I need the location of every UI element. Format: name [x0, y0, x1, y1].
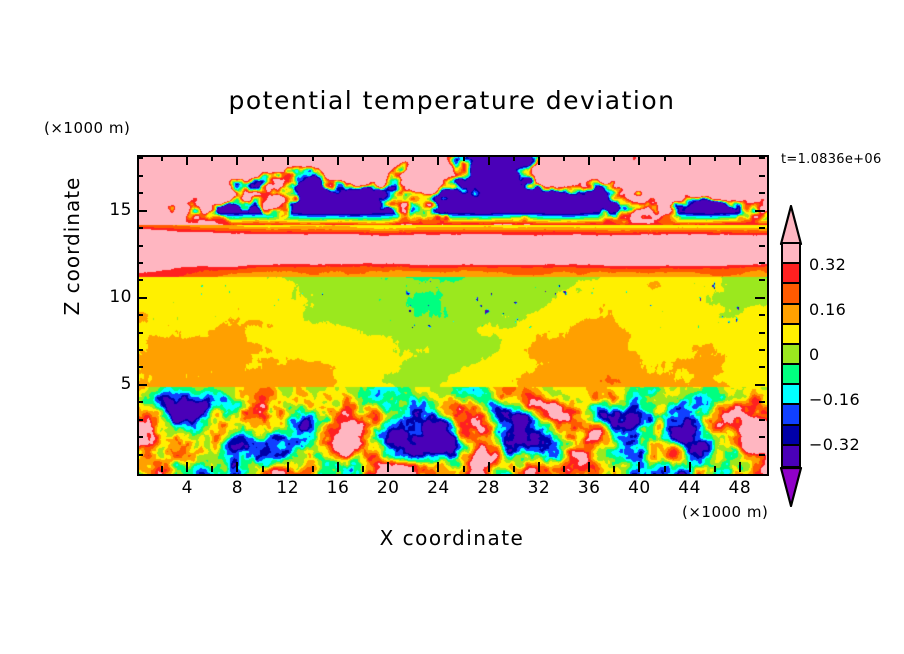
colorbar-band [783, 345, 799, 365]
x-tick-label: 20 [368, 478, 408, 498]
x-tick-top [262, 155, 264, 161]
y-tick-minor [137, 401, 143, 403]
x-tick-top [664, 155, 666, 161]
x-tick-top [613, 155, 615, 161]
colorbar-band [783, 264, 799, 284]
x-tick-top [312, 155, 314, 161]
x-tick-top [186, 155, 188, 165]
x-tick-top [211, 155, 213, 161]
x-tick-top [236, 155, 238, 165]
x-tick-minor [312, 466, 314, 472]
y-tick-minor [137, 245, 143, 247]
x-tick-label: 32 [519, 478, 559, 498]
x-tick-minor [664, 466, 666, 472]
x-tick-top [714, 155, 716, 161]
colorbar-band [783, 305, 799, 325]
timestamp-annotation: t=1.0836e+06 [781, 152, 882, 167]
x-tick-major [186, 462, 188, 472]
x-tick-label: 28 [469, 478, 509, 498]
colorbar-band [783, 325, 799, 345]
colorbar: 0.320.160−0.16−0.32 [779, 205, 803, 505]
y-tick-right [755, 210, 765, 212]
page-title: potential temperature deviation [0, 86, 904, 115]
y-tick-minor [137, 419, 143, 421]
x-tick-top [437, 155, 439, 165]
x-tick-label: 24 [418, 478, 458, 498]
y-tick-label: 5 [92, 374, 132, 394]
x-tick-minor [513, 466, 515, 472]
y-tick-right [759, 157, 765, 159]
colorbar-tick-label: 0.16 [809, 300, 846, 319]
x-tick-label: 48 [720, 478, 760, 498]
y-tick-minor [137, 349, 143, 351]
x-axis-title: X coordinate [252, 526, 652, 550]
y-tick-minor [137, 262, 143, 264]
y-tick-label: 15 [92, 200, 132, 220]
y-tick-right [759, 401, 765, 403]
x-tick-major [337, 462, 339, 472]
y-tick-minor [137, 332, 143, 334]
x-tick-major [739, 462, 741, 472]
x-tick-top [689, 155, 691, 165]
y-tick-right [759, 366, 765, 368]
x-tick-top [412, 155, 414, 161]
x-tick-top [488, 155, 490, 165]
x-tick-top [739, 155, 741, 165]
x-tick-major [638, 462, 640, 472]
y-tick-label: 10 [92, 287, 132, 307]
y-tick-major [137, 210, 147, 212]
y-tick-minor [137, 227, 143, 229]
colorbar-band [783, 284, 799, 304]
x-tick-label: 36 [569, 478, 609, 498]
y-tick-right [759, 349, 765, 351]
x-tick-label: 16 [318, 478, 358, 498]
figure-root: potential temperature deviation (×1000 m… [0, 0, 904, 654]
x-tick-major [287, 462, 289, 472]
x-tick-major [689, 462, 691, 472]
x-tick-label: 8 [217, 478, 257, 498]
y-tick-right [759, 262, 765, 264]
x-tick-minor [262, 466, 264, 472]
y-tick-minor [137, 175, 143, 177]
x-tick-top [588, 155, 590, 165]
y-tick-minor [137, 454, 143, 456]
x-tick-major [236, 462, 238, 472]
colorbar-band [783, 446, 799, 466]
colorbar-tick-label: −0.32 [809, 435, 860, 454]
x-tick-top [387, 155, 389, 165]
x-tick-minor [463, 466, 465, 472]
colorbar-band [783, 385, 799, 405]
y-tick-minor [137, 314, 143, 316]
colorbar-band [783, 244, 799, 264]
y-tick-right [759, 279, 765, 281]
colorbar-bands [781, 242, 801, 468]
colorbar-tick-label: 0 [809, 345, 820, 364]
x-tick-top [337, 155, 339, 165]
x-tick-minor [211, 466, 213, 472]
plot-area [137, 155, 769, 476]
x-tick-minor [714, 466, 716, 472]
colorbar-under-arrow [779, 467, 803, 507]
x-tick-minor [161, 466, 163, 472]
y-tick-minor [137, 157, 143, 159]
y-tick-minor [137, 366, 143, 368]
colorbar-tick-label: −0.16 [809, 390, 860, 409]
x-tick-top [463, 155, 465, 161]
x-tick-label: 4 [167, 478, 207, 498]
y-axis-title: Z coordinate [60, 166, 84, 326]
y-tick-right [759, 175, 765, 177]
x-tick-top [638, 155, 640, 165]
colorbar-band [783, 365, 799, 385]
x-tick-minor [613, 466, 615, 472]
x-tick-top [513, 155, 515, 161]
colorbar-tick-label: 0.32 [809, 255, 846, 274]
x-tick-label: 12 [268, 478, 308, 498]
x-tick-minor [362, 466, 364, 472]
x-tick-top [362, 155, 364, 161]
x-axis-unit-label: (×1000 m) [682, 503, 768, 521]
y-tick-minor [137, 279, 143, 281]
contour-field [139, 157, 767, 474]
x-tick-top [563, 155, 565, 161]
y-tick-right [759, 436, 765, 438]
y-tick-right [759, 454, 765, 456]
y-tick-right [759, 419, 765, 421]
x-tick-top [538, 155, 540, 165]
x-tick-major [538, 462, 540, 472]
x-tick-top [287, 155, 289, 165]
y-tick-right [759, 227, 765, 229]
y-tick-right [755, 297, 765, 299]
y-axis-unit-label: (×1000 m) [44, 119, 130, 137]
x-tick-major [588, 462, 590, 472]
x-tick-major [437, 462, 439, 472]
x-tick-minor [412, 466, 414, 472]
x-tick-top [161, 155, 163, 161]
colorbar-band [783, 405, 799, 425]
y-tick-minor [137, 436, 143, 438]
colorbar-band [783, 426, 799, 446]
x-tick-label: 40 [619, 478, 659, 498]
y-tick-right [759, 332, 765, 334]
y-tick-major [137, 297, 147, 299]
x-tick-minor [563, 466, 565, 472]
x-tick-label: 44 [670, 478, 710, 498]
y-tick-right [759, 245, 765, 247]
x-tick-major [387, 462, 389, 472]
y-tick-major [137, 384, 147, 386]
x-tick-major [488, 462, 490, 472]
y-tick-right [755, 384, 765, 386]
colorbar-over-arrow [779, 205, 803, 245]
y-tick-minor [137, 192, 143, 194]
y-tick-right [759, 314, 765, 316]
y-tick-right [759, 192, 765, 194]
